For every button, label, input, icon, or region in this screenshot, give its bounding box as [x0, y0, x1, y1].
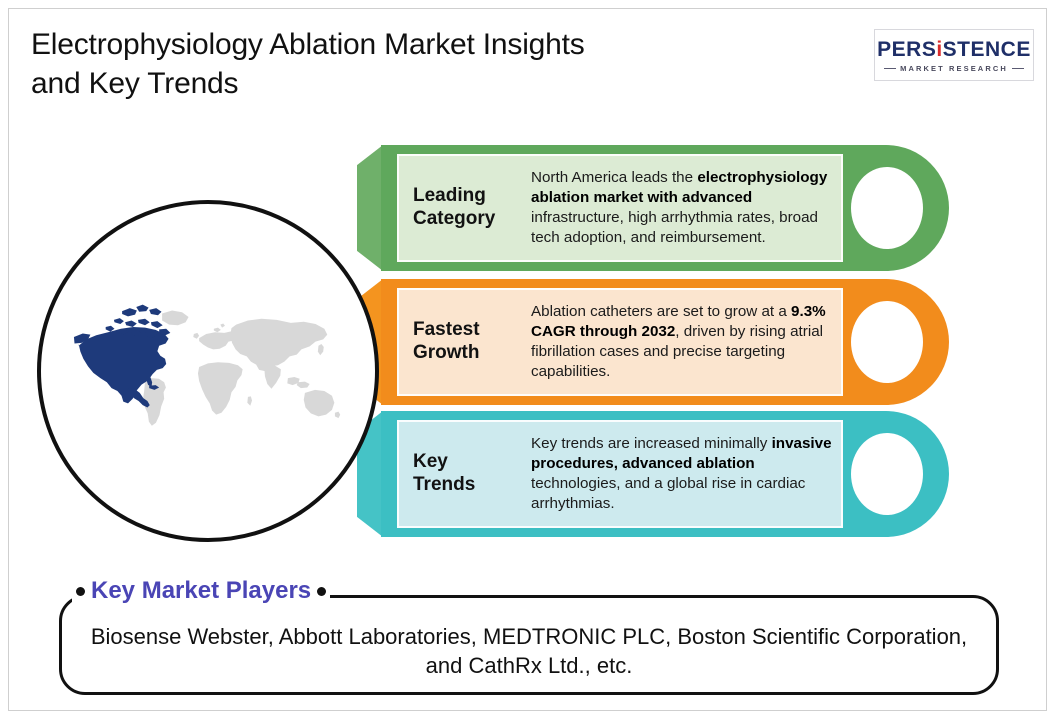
row-label-fastest-growth: Fastest Growth	[399, 319, 531, 365]
row-text-plain-2: infrastructure, high arrhythmia rates, b…	[531, 209, 818, 246]
row-label-line2: Category	[413, 208, 531, 231]
persistence-market-research-logo: PERSiSTENCE MARKET RESEARCH	[874, 29, 1034, 81]
row-label-leading-category: Leading Category	[399, 185, 531, 231]
infographic-canvas: Electrophysiology Ablation Market Insigh…	[8, 8, 1047, 711]
logo-subtitle: MARKET RESEARCH	[900, 64, 1008, 73]
page-title: Electrophysiology Ablation Market Insigh…	[31, 25, 631, 103]
world-map-globe	[37, 200, 379, 542]
bullet-dot-left-icon	[76, 587, 85, 596]
row-label-key-trends: Key Trends	[399, 451, 531, 497]
row-content-teal: Key Trends Key trends are increased mini…	[397, 420, 843, 528]
logo-word-part2: STENCE	[943, 38, 1031, 61]
row-text-plain-1: North America leads the	[531, 169, 697, 186]
logo-rule-right	[1012, 68, 1024, 69]
row-arrow-green	[357, 145, 383, 271]
row-circle-cutout-orange	[851, 301, 923, 383]
row-description-key-trends: Key trends are increased minimally invas…	[531, 434, 841, 515]
row-description-leading-category: North America leads the electrophysiolog…	[531, 168, 841, 249]
row-label-line2: Growth	[413, 342, 531, 365]
row-label-line1: Fastest	[413, 319, 531, 342]
row-content-orange: Fastest Growth Ablation catheters are se…	[397, 288, 843, 396]
row-fastest-growth: Fastest Growth Ablation catheters are se…	[381, 279, 949, 405]
row-content-green: Leading Category North America leads the…	[397, 154, 843, 262]
row-leading-category: Leading Category North America leads the…	[381, 145, 949, 271]
row-circle-cutout-teal	[851, 433, 923, 515]
row-text-plain-2: technologies, and a global rise in cardi…	[531, 475, 805, 512]
key-market-players-title: Key Market Players	[85, 579, 317, 603]
row-label-line2: Trends	[413, 474, 531, 497]
row-key-trends: Key Trends Key trends are increased mini…	[381, 411, 949, 537]
bullet-dot-right-icon	[317, 587, 326, 596]
logo-wordmark: PERSiSTENCE	[877, 39, 1031, 60]
row-circle-cutout-green	[851, 167, 923, 249]
key-market-players-list: Biosense Webster, Abbott Laboratories, M…	[88, 622, 970, 680]
row-text-plain-1: Ablation catheters are set to grow at a	[531, 303, 791, 320]
logo-subtitle-wrap: MARKET RESEARCH	[884, 64, 1023, 73]
row-label-line1: Key	[413, 451, 531, 474]
row-label-line1: Leading	[413, 185, 531, 208]
logo-rule-left	[884, 68, 896, 69]
logo-word-part1: PERS	[877, 38, 936, 61]
row-description-fastest-growth: Ablation catheters are set to grow at a …	[531, 302, 841, 383]
world-map-icon	[61, 264, 355, 471]
key-market-players-header: Key Market Players	[72, 579, 330, 603]
row-text-plain-1: Key trends are increased minimally	[531, 435, 772, 452]
key-market-players-box: Key Market Players Biosense Webster, Abb…	[59, 595, 999, 695]
